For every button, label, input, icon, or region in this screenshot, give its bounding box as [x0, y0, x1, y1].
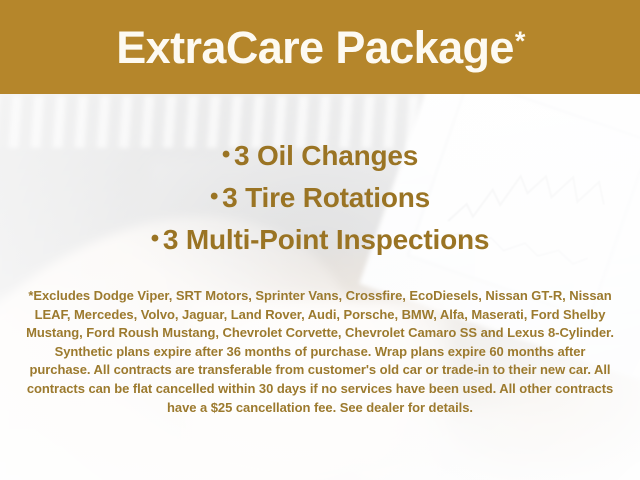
page-title: ExtraCare Package* [116, 25, 524, 70]
extracare-package-promo-card: ExtraCare Package* •3 Oil Changes •3 Tir… [0, 0, 640, 480]
list-item-label: 3 Multi-Point Inspections [163, 224, 489, 255]
disclaimer-text: *Excludes Dodge Viper, SRT Motors, Sprin… [24, 287, 616, 417]
disclaimer-paragraph: *Excludes Dodge Viper, SRT Motors, Sprin… [24, 287, 616, 417]
benefits-list: •3 Oil Changes •3 Tire Rotations •3 Mult… [0, 136, 640, 262]
list-item-label: 3 Tire Rotations [222, 182, 430, 213]
page-title-text: ExtraCare Package [116, 22, 514, 73]
bullet-icon: • [151, 225, 159, 252]
list-item: •3 Multi-Point Inspections [0, 220, 640, 262]
list-item: •3 Tire Rotations [0, 178, 640, 220]
title-asterisk: * [515, 26, 525, 56]
list-item-label: 3 Oil Changes [234, 140, 418, 171]
list-item: •3 Oil Changes [0, 136, 640, 178]
header-band: ExtraCare Package* [0, 0, 640, 94]
bullet-icon: • [210, 183, 218, 210]
bullet-icon: • [222, 141, 230, 168]
